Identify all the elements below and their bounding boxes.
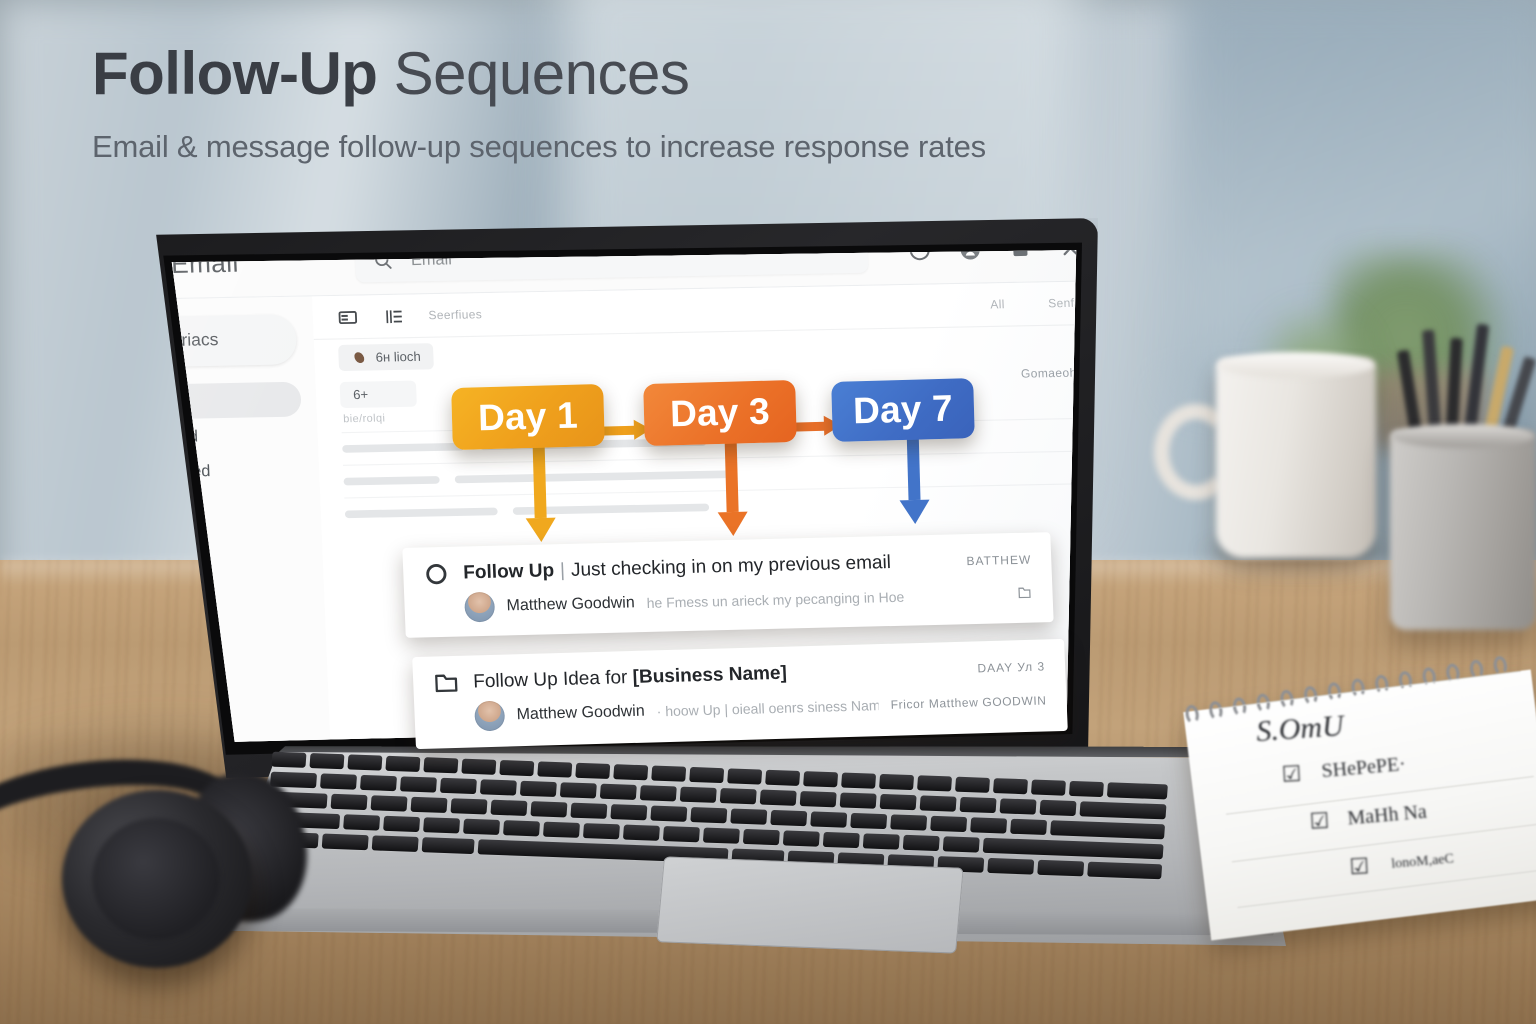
page-title: Follow-Up Sequences: [92, 42, 986, 105]
skeleton-bar: [479, 438, 706, 450]
notepad-item: MaHh Na: [1347, 801, 1428, 831]
page-subtitle: Email & message follow-up sequences to i…: [92, 129, 986, 165]
sidebar-item-snoozed[interactable]: Snoozed: [128, 451, 305, 490]
draft-icon: [128, 532, 132, 553]
page-title-strong: Follow-Up: [92, 40, 377, 107]
skeleton-bar: [342, 443, 464, 453]
notepad-checkmark-icon: ☑: [1309, 808, 1330, 835]
gmail-m-logo-icon: [128, 249, 157, 283]
headphones-earpad: [92, 818, 220, 940]
sidebar-item-drafts[interactable]: Drafttss: [128, 521, 307, 560]
page-header: Follow-Up Sequences Email & message foll…: [92, 42, 986, 165]
notepad-item: lonoM,aeC: [1391, 851, 1455, 872]
send-icon: [128, 497, 130, 518]
sidebar-item-label: Sent: [147, 497, 181, 516]
notepad-title: S.OmU: [1255, 709, 1345, 749]
notepad-item: SHePePE·: [1321, 753, 1407, 783]
filter-chip-secondary-label: 6+: [353, 387, 369, 403]
skeleton-bar: [345, 508, 498, 519]
filter-chip-primary[interactable]: 6н lioch: [338, 343, 434, 371]
sort-list-icon[interactable]: [382, 305, 405, 327]
toolbar-left-label: Seerfiues: [428, 308, 482, 322]
notepad-rule: [1237, 869, 1536, 908]
page-title-rest: Sequences: [377, 40, 689, 107]
sidebar-nav: Inbox Starred: [128, 381, 324, 595]
email-skeleton-list: [317, 411, 1080, 531]
laptop-screen: Email Email: [128, 246, 1080, 752]
filter-chip-secondary[interactable]: 6+: [340, 381, 417, 409]
sidebar-item-inbox[interactable]: Inbox: [128, 382, 302, 421]
compose-plus-icon: [128, 329, 140, 356]
filter-chip-label: 6н lioch: [375, 349, 421, 365]
trackpad[interactable]: [656, 856, 964, 953]
toolbar-right: All Senfact: [990, 296, 1080, 311]
compose-button[interactable]: Feriacs: [128, 314, 297, 368]
sidebar: Feriacs Inbox: [128, 296, 332, 752]
toolbar-all-label[interactable]: All: [990, 298, 1005, 311]
sidebar-item-label: More: [150, 566, 188, 585]
corner-status-label: Gomaeoh: [1021, 367, 1077, 381]
notepad-rule: [1232, 824, 1536, 863]
corner-status-chip: Gomaeoh: [1021, 366, 1080, 381]
sidebar-item-sent[interactable]: Sent: [128, 486, 306, 525]
sidebar-item-starred[interactable]: Starred: [128, 417, 303, 456]
tag-icon: [351, 350, 367, 366]
notepad-checkmark-icon: ☑: [1349, 853, 1370, 880]
notepad: S.OmU ☑ SHePePE· ☑ MaHh Na ☑ lonoM,aeC: [1183, 670, 1536, 941]
notepad-checkmark-icon: ☑: [1281, 761, 1302, 788]
skeleton-bar: [513, 504, 710, 515]
sidebar-item-more[interactable]: More: [128, 556, 309, 595]
skeleton-bar: [343, 476, 439, 485]
email-app: Email Email: [128, 246, 1080, 752]
main-panel: Seerfiues All Senfact 6н lioch: [312, 281, 1080, 752]
layout-toggle-icon[interactable]: [336, 306, 359, 328]
more-arrow-icon: [128, 566, 133, 587]
clock-icon: [128, 462, 129, 483]
skeleton-bar: [455, 470, 730, 483]
sidebar-item-label: Snoozed: [145, 461, 210, 481]
